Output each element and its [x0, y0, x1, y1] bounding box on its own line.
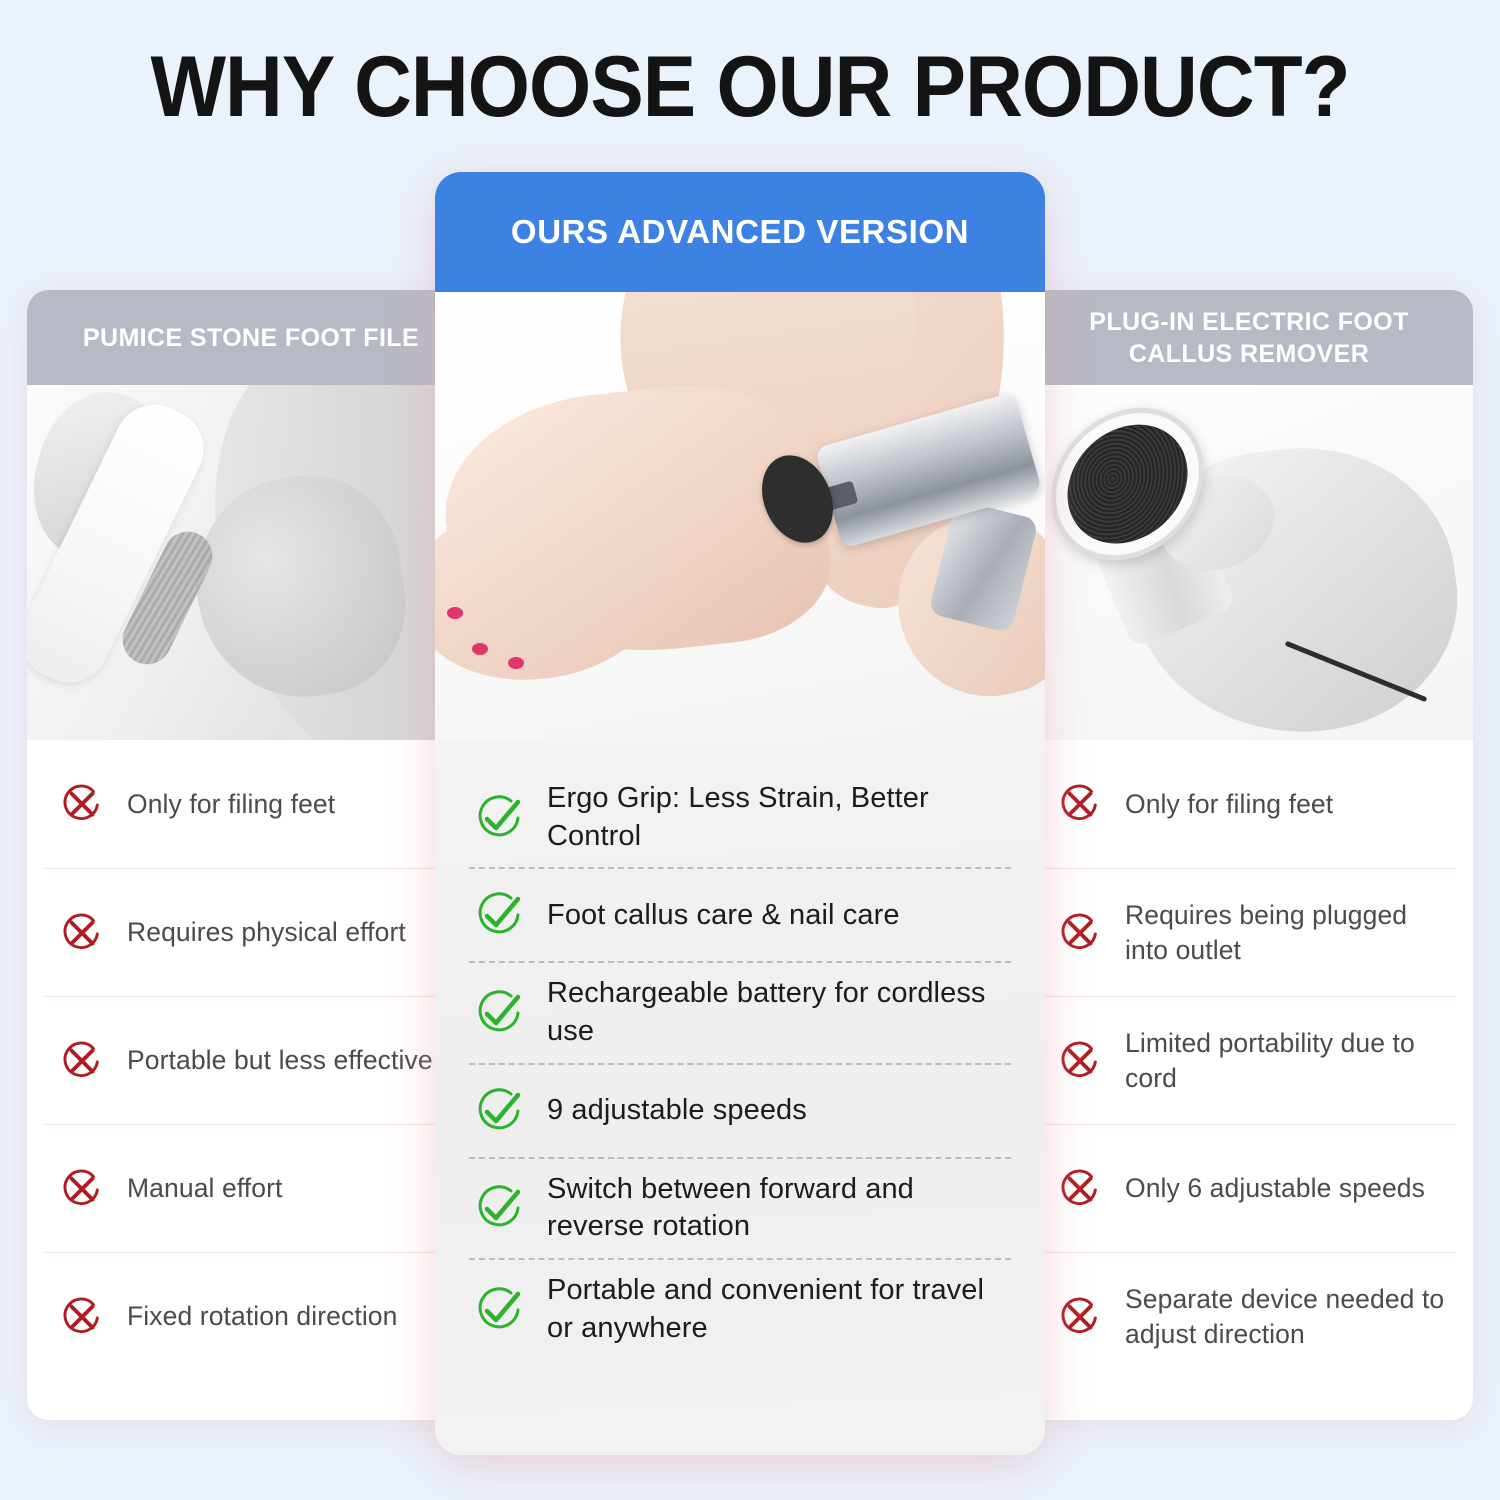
column-header-right: PLUG-IN ELECTRIC FOOT CALLUS REMOVER: [1025, 290, 1473, 385]
page-title: WHY CHOOSE OUR PRODUCT?: [53, 38, 1448, 137]
list-item-label: Only 6 adjustable speeds: [1125, 1171, 1425, 1205]
list-item-label: Foot callus care & nail care: [547, 897, 900, 935]
circle-x-icon: [59, 1166, 105, 1212]
circle-check-icon: [473, 1182, 525, 1234]
list-item: Limited portability due to cord: [1043, 996, 1455, 1124]
list-item-label: Portable but less effective: [127, 1043, 433, 1077]
list-item: Fixed rotation direction: [45, 1252, 457, 1380]
list-item-label: Switch between forward and reverse rotat…: [547, 1171, 1007, 1246]
list-item: Ergo Grip: Less Strain, Better Control: [469, 768, 1011, 867]
circle-x-icon: [59, 781, 105, 827]
list-item-label: 9 adjustable speeds: [547, 1092, 807, 1130]
column-header-left-label: PUMICE STONE FOOT FILE: [83, 322, 419, 354]
circle-x-icon: [1057, 910, 1103, 956]
column-header-center: OURS ADVANCED VERSION: [435, 172, 1045, 292]
circle-check-icon: [473, 987, 525, 1039]
comparison-column-center: OURS ADVANCED VERSION Ergo Grip: Less St…: [435, 172, 1045, 1455]
list-item-label: Portable and convenient for travel or an…: [547, 1272, 1007, 1347]
column-header-right-line1: PLUG-IN ELECTRIC FOOT: [1089, 308, 1409, 336]
column-header-right-label: PLUG-IN ELECTRIC FOOT CALLUS REMOVER: [1089, 306, 1409, 370]
circle-x-icon: [1057, 1166, 1103, 1212]
list-item: Separate device needed to adjust directi…: [1043, 1252, 1455, 1380]
list-item-label: Rechargeable battery for cordless use: [547, 975, 1007, 1050]
list-item-label: Manual effort: [127, 1171, 283, 1205]
list-item: 9 adjustable speeds: [469, 1063, 1011, 1157]
feature-list-left: Only for filing feet Requires physical e…: [27, 740, 475, 1380]
circle-x-icon: [1057, 1038, 1103, 1084]
column-header-left: PUMICE STONE FOOT FILE: [27, 290, 475, 385]
list-item: Switch between forward and reverse rotat…: [469, 1157, 1011, 1258]
list-item-label: Fixed rotation direction: [127, 1299, 397, 1333]
circle-x-icon: [59, 910, 105, 956]
circle-check-icon: [473, 889, 525, 941]
column-header-center-label: OURS ADVANCED VERSION: [511, 213, 969, 251]
list-item-label: Ergo Grip: Less Strain, Better Control: [547, 780, 1007, 855]
comparison-column-right: PLUG-IN ELECTRIC FOOT CALLUS REMOVER Onl…: [1025, 290, 1473, 1420]
list-item: Only for filing feet: [45, 740, 457, 868]
list-item: Portable but less effective: [45, 996, 457, 1124]
feature-list-right: Only for filing feet Requires being plug…: [1025, 740, 1473, 1380]
list-item: Only 6 adjustable speeds: [1043, 1124, 1455, 1252]
comparison-column-left: PUMICE STONE FOOT FILE Only for filing f…: [27, 290, 475, 1420]
list-item-label: Limited portability due to cord: [1125, 1026, 1447, 1095]
circle-x-icon: [1057, 781, 1103, 827]
list-item: Portable and convenient for travel or an…: [469, 1258, 1011, 1359]
list-item-label: Only for filing feet: [1125, 787, 1333, 821]
circle-x-icon: [59, 1038, 105, 1084]
list-item: Only for filing feet: [1043, 740, 1455, 868]
circle-check-icon: [473, 1284, 525, 1336]
list-item: Requires physical effort: [45, 868, 457, 996]
list-item: Foot callus care & nail care: [469, 867, 1011, 961]
circle-check-icon: [473, 1085, 525, 1137]
circle-x-icon: [1057, 1294, 1103, 1340]
list-item-label: Separate device needed to adjust directi…: [1125, 1282, 1447, 1351]
product-image-right: [1025, 385, 1473, 740]
circle-check-icon: [473, 792, 525, 844]
product-image-left: [27, 385, 475, 740]
column-header-right-line2: CALLUS REMOVER: [1129, 340, 1369, 368]
list-item-label: Only for filing feet: [127, 787, 335, 821]
list-item: Requires being plugged into outlet: [1043, 868, 1455, 996]
circle-x-icon: [59, 1294, 105, 1340]
list-item: Rechargeable battery for cordless use: [469, 961, 1011, 1062]
list-item-label: Requires being plugged into outlet: [1125, 898, 1447, 967]
list-item-label: Requires physical effort: [127, 915, 406, 949]
feature-list-center: Ergo Grip: Less Strain, Better Control F…: [435, 742, 1045, 1370]
product-image-center: [435, 292, 1045, 742]
list-item: Manual effort: [45, 1124, 457, 1252]
